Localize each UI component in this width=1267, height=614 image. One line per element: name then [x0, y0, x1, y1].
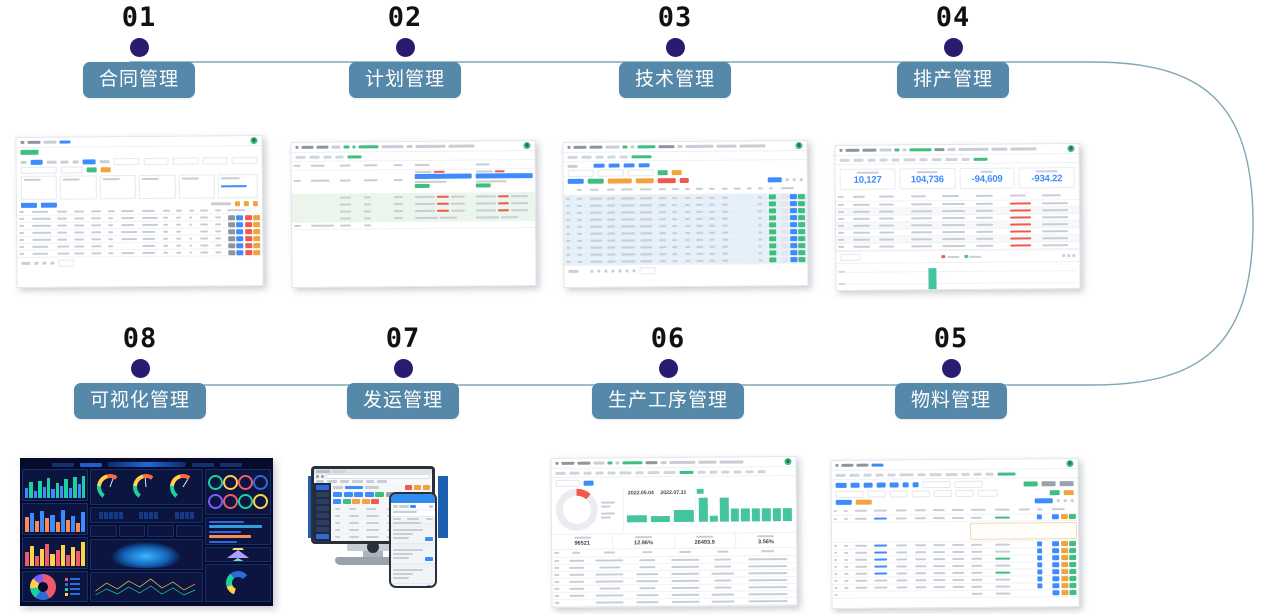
- user-avatar-icon: [250, 137, 257, 144]
- timeline-dot-icon: [944, 38, 963, 57]
- user-avatar-icon: [523, 142, 530, 149]
- stat-value: 3.56%: [736, 539, 796, 545]
- user-avatar-icon: [1066, 460, 1073, 467]
- process-bar-chart-right: [699, 497, 792, 522]
- step-dot-wrap: [290, 32, 520, 62]
- timeline-dot-icon: [131, 359, 150, 378]
- step-01[interactable]: 01 合同管理: [24, 4, 254, 98]
- bi-dashboard: [20, 458, 273, 606]
- step-label-pill[interactable]: 生产工序管理: [592, 383, 744, 419]
- step-dot-wrap: [836, 353, 1066, 383]
- list-item[interactable]: [391, 528, 435, 544]
- step-number: 05: [836, 325, 1066, 353]
- user-avatar-icon: [1067, 145, 1074, 152]
- step-label-pill[interactable]: 排产管理: [897, 62, 1009, 98]
- stat-card: -934.22: [1019, 167, 1075, 188]
- screenshot-shipping-devices[interactable]: [305, 458, 495, 610]
- step-dot-wrap: [838, 32, 1068, 62]
- stat-card: 10,127: [840, 168, 896, 189]
- step-08[interactable]: 08 可视化管理: [25, 325, 255, 419]
- screenshot-production-scheduling[interactable]: 10,127 104,736 -94,609 -934.22: [834, 143, 1080, 291]
- screenshot-plan-management[interactable]: [290, 140, 536, 288]
- floating-action-button[interactable]: [425, 585, 433, 586]
- timeline-dot-icon: [130, 38, 149, 57]
- chart-legend: [860, 252, 1062, 261]
- table-footer-row: [553, 597, 797, 606]
- gauge-chart: [97, 474, 123, 500]
- list-item[interactable]: [391, 517, 435, 524]
- step-label-pill[interactable]: 计划管理: [349, 62, 461, 98]
- stat-value: -94,609: [960, 175, 1014, 185]
- stat-value: 12.96%: [613, 540, 673, 546]
- step-label-pill[interactable]: 物料管理: [895, 383, 1007, 419]
- step-number: 08: [25, 325, 255, 353]
- step-number: 02: [290, 4, 520, 32]
- step-dot-wrap: [24, 32, 254, 62]
- app-sidebar[interactable]: [314, 483, 331, 541]
- table-row-popover: [832, 520, 1078, 542]
- radial-chart: [226, 571, 250, 595]
- list-item[interactable]: [391, 568, 435, 584]
- mobile-phone: [389, 492, 437, 588]
- step-04[interactable]: 04 排产管理: [838, 4, 1068, 98]
- stat-cards: 10,127 104,736 -94,609 -934.22: [836, 163, 1079, 193]
- stat-value: 10,127: [841, 175, 895, 185]
- step-dot-wrap: [553, 353, 783, 383]
- bar: [928, 268, 936, 291]
- technology-table[interactable]: [564, 184, 808, 265]
- monitor-camera-dot: [367, 541, 379, 553]
- step-07[interactable]: 07 发运管理: [288, 325, 518, 419]
- stat-card: 104,736: [899, 168, 955, 189]
- process-bar-chart-left: [627, 498, 694, 523]
- stat-value: -934.22: [1020, 174, 1074, 184]
- summary-stats: 96521 12.96% 26493.9 3.56%: [552, 532, 796, 550]
- dashboard-header: [22, 460, 271, 469]
- timeline-dot-icon: [394, 359, 413, 378]
- screenshot-production-process[interactable]: 2022.05.04 2022.07.31: [550, 456, 797, 608]
- timeline-dot-icon: [659, 359, 678, 378]
- timeline-dot-icon: [942, 359, 961, 378]
- pie-chart: [30, 574, 56, 600]
- screenshot-contract-management[interactable]: [15, 135, 263, 288]
- step-dot-wrap: [25, 353, 255, 383]
- step-label-pill[interactable]: 发运管理: [347, 383, 459, 419]
- screenshot-visualization-dashboard[interactable]: [20, 458, 273, 606]
- table-footer-row: [832, 589, 1078, 598]
- user-avatar-icon: [795, 142, 802, 149]
- screenshot-technology-management[interactable]: [562, 140, 808, 288]
- user-avatar-icon: [784, 458, 791, 465]
- phone-app-header: [391, 494, 435, 503]
- step-number: 03: [560, 4, 790, 32]
- step-number: 04: [838, 4, 1068, 32]
- donut-chart: [556, 489, 598, 531]
- timeline-diagram: 01 合同管理: [0, 0, 1267, 614]
- monitor-right-panel: [438, 476, 448, 538]
- step-label-pill[interactable]: 合同管理: [83, 62, 195, 98]
- step-number: 06: [553, 325, 783, 353]
- step-label-pill[interactable]: 可视化管理: [74, 383, 206, 419]
- table-row-expanded[interactable]: [292, 168, 535, 194]
- timeline-dot-icon: [666, 38, 685, 57]
- scheduling-table[interactable]: [836, 192, 1079, 251]
- step-06[interactable]: 06 生产工序管理: [553, 325, 783, 419]
- date-start: 2022.05.04: [627, 490, 655, 496]
- vehicle-visual: [111, 542, 181, 568]
- plan-table[interactable]: [292, 160, 536, 229]
- material-table[interactable]: [832, 505, 1079, 598]
- list-item[interactable]: [391, 548, 435, 564]
- table-row[interactable]: [292, 220, 535, 229]
- date-end: 2022.07.31: [659, 489, 687, 495]
- stat-value: 104,736: [900, 175, 954, 185]
- dashboard-title: [108, 462, 186, 467]
- step-dot-wrap: [288, 353, 518, 383]
- process-table[interactable]: [552, 548, 796, 606]
- stat-value: 26493.9: [675, 540, 735, 546]
- stat-card: -94,609: [959, 168, 1015, 189]
- step-dot-wrap: [560, 32, 790, 62]
- scheduling-bar-chart: [836, 261, 1079, 291]
- step-label-pill[interactable]: 技术管理: [619, 62, 731, 98]
- step-number: 01: [24, 4, 254, 32]
- stat-value: 96521: [552, 540, 612, 546]
- step-02[interactable]: 02 计划管理: [290, 4, 520, 98]
- gauge-chart: [170, 474, 196, 500]
- gauge-chart: [133, 474, 159, 500]
- step-05[interactable]: 05 物料管理: [836, 325, 1066, 419]
- step-03[interactable]: 03 技术管理: [560, 4, 790, 98]
- timeline-dot-icon: [396, 38, 415, 57]
- screenshot-material-management[interactable]: [830, 458, 1079, 609]
- data-table[interactable]: [17, 207, 262, 258]
- step-number: 07: [288, 325, 518, 353]
